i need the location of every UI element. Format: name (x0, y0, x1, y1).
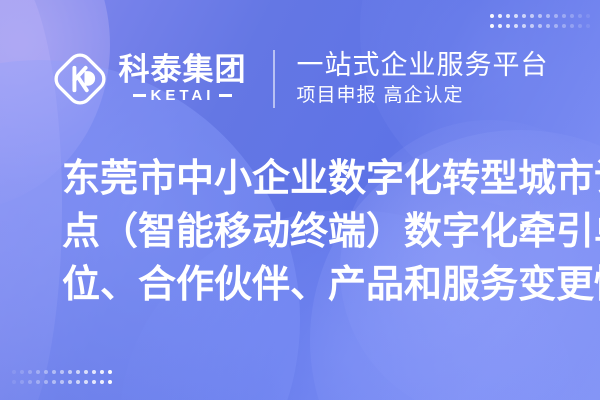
dot-grid-dot (20, 370, 24, 374)
dot-grid-dot (76, 370, 80, 374)
header-divider (273, 50, 275, 108)
dot-grid-dot (506, 14, 510, 18)
dot-grid-dot (498, 14, 502, 18)
dot-grid-dot (578, 24, 582, 28)
dot-grid-dot (530, 24, 534, 28)
dot-grid-dot (84, 380, 88, 384)
dot-grid-row (490, 24, 590, 28)
dot-grid-dot (76, 380, 80, 384)
dot-grid-dot (570, 14, 574, 18)
dot-grid-dot (84, 370, 88, 374)
headline-line-2: 点（智能移动终端）数字化牵引单 (62, 205, 582, 258)
dot-grid-dot (562, 24, 566, 28)
dot-grid-dot (108, 370, 112, 374)
dot-grid-dot (28, 370, 32, 374)
tagline-primary: 一站式企业服务平台 (297, 52, 549, 80)
dot-grid-dot (52, 380, 56, 384)
dot-grid-dot (538, 14, 542, 18)
dot-grid-dot (92, 370, 96, 374)
dot-grid-dot (12, 370, 16, 374)
dot-grid-dot (52, 370, 56, 374)
dot-grid-row (490, 14, 590, 18)
brand-tagline: 一站式企业服务平台 项目申报 高企认定 (297, 52, 549, 105)
dot-grid-dot (100, 370, 104, 374)
brand-wordmark: 科泰集团 KETAI (119, 55, 247, 103)
banner-header: 科泰集团 KETAI 一站式企业服务平台 项目申报 高企认定 (0, 40, 600, 118)
tagline-secondary: 项目申报 高企认定 (297, 86, 549, 106)
brand-logo: 科泰集团 KETAI (52, 51, 247, 107)
ketai-diamond-monogram-icon (52, 51, 108, 107)
dot-grid-dot (68, 370, 72, 374)
dot-grid-row (12, 370, 112, 374)
wordmark-dash-left (133, 94, 146, 97)
dot-grid-dot (554, 24, 558, 28)
banner-headline: 东莞市中小企业数字化转型城市试 点（智能移动终端）数字化牵引单 位、合作伙伴、产… (62, 152, 582, 311)
dot-grid-dot (586, 14, 590, 18)
dot-grid-dot (28, 380, 32, 384)
dot-grid-dot (498, 24, 502, 28)
dot-grid-dot (68, 380, 72, 384)
brand-latin-row: KETAI (133, 88, 233, 103)
headline-line-3: 位、合作伙伴、产品和服务变更情 (62, 258, 582, 311)
dot-grid-dot (562, 14, 566, 18)
dot-grid-dot (490, 14, 494, 18)
dot-grid-dot (578, 14, 582, 18)
promo-banner: 科泰集团 KETAI 一站式企业服务平台 项目申报 高企认定 东莞市中小企业数字… (0, 0, 600, 400)
dot-grid-dot (92, 380, 96, 384)
brand-name-cn: 科泰集团 (119, 55, 247, 86)
wordmark-dash-right (219, 94, 232, 97)
dot-grid-row (12, 380, 112, 384)
dot-grid-dot (522, 24, 526, 28)
dot-grid-dot (546, 24, 550, 28)
brand-name-latin: KETAI (151, 88, 215, 103)
headline-line-1: 东莞市中小企业数字化转型城市试 (62, 152, 582, 205)
dot-grid-dot (506, 24, 510, 28)
dot-grid-bottom-left (12, 370, 112, 384)
dot-grid-dot (570, 24, 574, 28)
dot-grid-dot (108, 380, 112, 384)
dot-grid-top-right (490, 14, 590, 28)
dot-grid-dot (538, 24, 542, 28)
dot-grid-dot (60, 370, 64, 374)
dot-grid-dot (514, 14, 518, 18)
dot-grid-dot (586, 24, 590, 28)
dot-grid-dot (12, 380, 16, 384)
dot-grid-dot (100, 380, 104, 384)
dot-grid-dot (546, 14, 550, 18)
dot-grid-dot (20, 380, 24, 384)
dot-grid-dot (514, 24, 518, 28)
dot-grid-dot (60, 380, 64, 384)
dot-grid-dot (522, 14, 526, 18)
dot-grid-dot (44, 370, 48, 374)
dot-grid-dot (554, 14, 558, 18)
dot-grid-dot (44, 380, 48, 384)
dot-grid-dot (36, 380, 40, 384)
dot-grid-dot (490, 24, 494, 28)
dot-grid-dot (36, 370, 40, 374)
dot-grid-dot (530, 14, 534, 18)
